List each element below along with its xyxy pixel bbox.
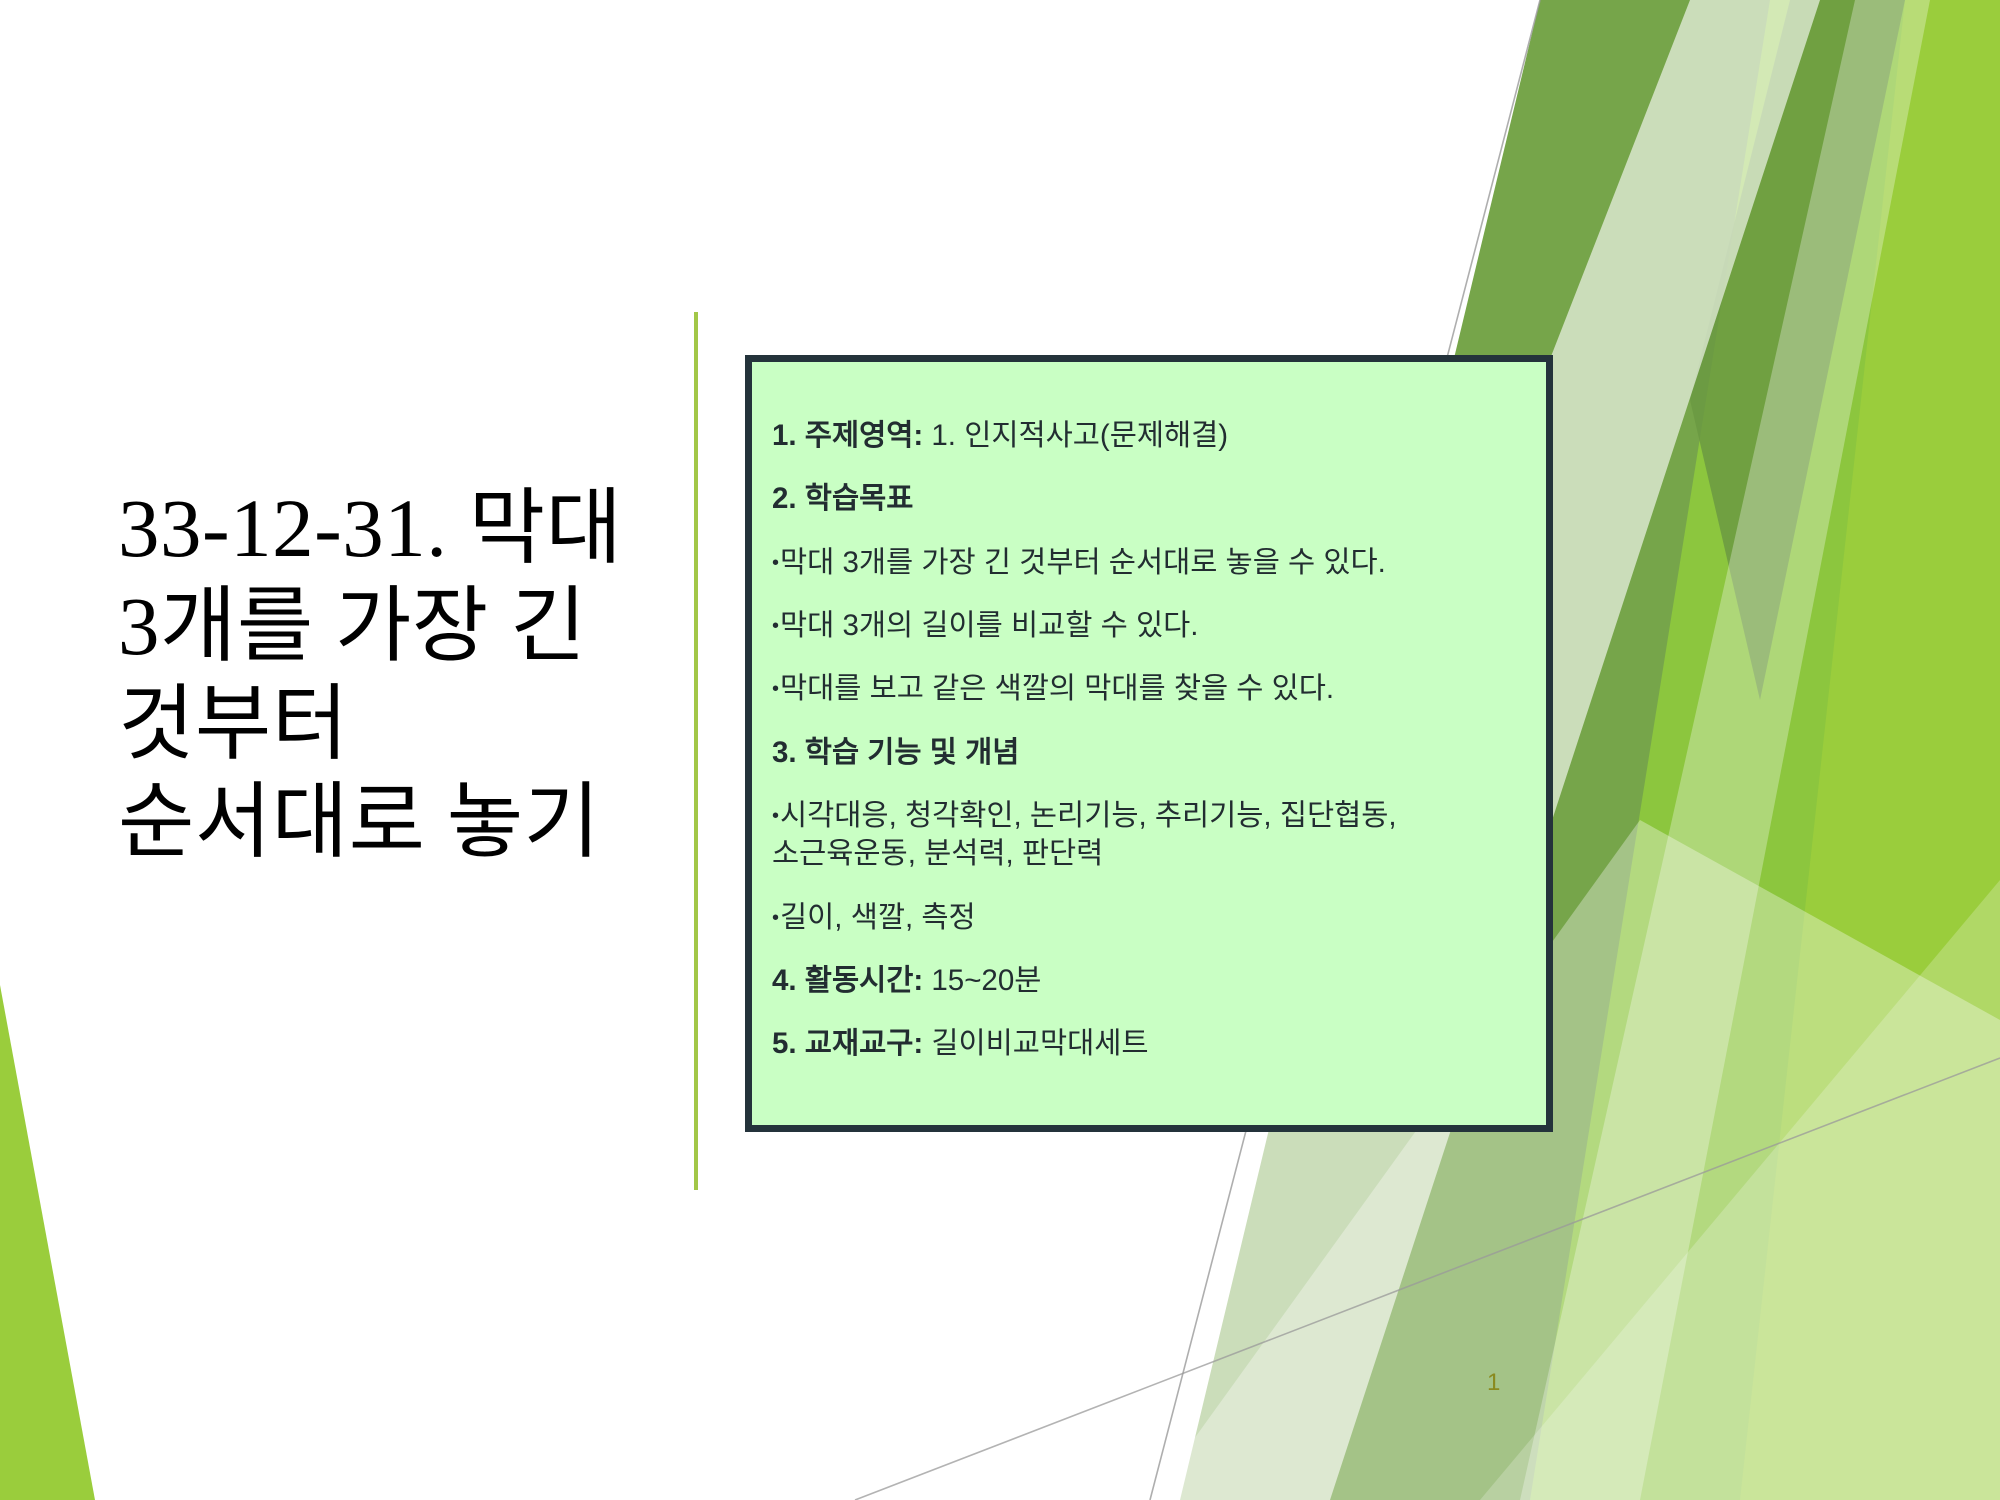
lesson-info-line-label: 5. 교재교구:: [772, 1027, 931, 1060]
lesson-info-line-value: 15~20분: [931, 964, 1041, 997]
lesson-info-line-value: 길이비교막대세트: [931, 1027, 1148, 1060]
lesson-info-line-text: 2. 학습목표: [772, 482, 913, 515]
lesson-info-line: 4. 활동시간: 15~20분: [772, 962, 1536, 1000]
pale-overlay-corner: [1480, 880, 2000, 1500]
lesson-info-line-text: 시각대응, 청각확인, 논리기능, 추리기능, 집단협동, 소근육운동, 분석력…: [772, 799, 1405, 870]
page-number: 1: [1487, 1369, 1500, 1397]
lesson-info-line-text: 길이, 색깔, 측정: [780, 901, 976, 934]
lesson-info-line: 막대를 보고 같은 색깔의 막대를 찾을 수 있다.: [772, 670, 1536, 708]
lesson-info-line-text: 막대를 보고 같은 색깔의 막대를 찾을 수 있다.: [780, 672, 1334, 705]
lesson-info-line-value: 1. 인지적사고(문제해결): [931, 419, 1228, 452]
right-band-bright: [1530, 0, 2000, 1500]
lesson-info-line: 막대 3개를 가장 긴 것부터 순서대로 놓을 수 있다.: [772, 544, 1536, 582]
page-title: 33-12-31. 막대 3개를 가장 긴 것부터 순서대로 놓기: [118, 480, 638, 872]
lesson-info-line: 3. 학습 기능 및 개념: [772, 734, 1536, 772]
lesson-info-list: 1. 주제영역: 1. 인지적사고(문제해결)2. 학습목표막대 3개를 가장 …: [772, 417, 1536, 1089]
slide-title-block: 33-12-31. 막대 3개를 가장 긴 것부터 순서대로 놓기: [118, 480, 638, 872]
lesson-info-line-text: 3. 학습 기능 및 개념: [772, 736, 1019, 769]
bottom-left-wedge: [0, 985, 95, 1500]
right-band-darkest: [1690, 0, 1905, 700]
lesson-info-line-text: 막대 3개를 가장 긴 것부터 순서대로 놓을 수 있다.: [780, 546, 1386, 579]
pale-overlay-sliver: [1520, 0, 1930, 1500]
lesson-info-line-text: 막대 3개의 길이를 비교할 수 있다.: [780, 609, 1198, 642]
lesson-info-line: 시각대응, 청각확인, 논리기능, 추리기능, 집단협동, 소근육운동, 분석력…: [772, 797, 1536, 874]
lesson-info-line: 2. 학습목표: [772, 480, 1536, 518]
lesson-info-line: 1. 주제영역: 1. 인지적사고(문제해결): [772, 417, 1536, 455]
lesson-info-line: 길이, 색깔, 측정: [772, 899, 1536, 937]
presentation-slide: 33-12-31. 막대 3개를 가장 긴 것부터 순서대로 놓기 1. 주제영…: [0, 0, 2000, 1500]
vertical-accent-rule: [694, 312, 698, 1190]
lesson-info-box: 1. 주제영역: 1. 인지적사고(문제해결)2. 학습목표막대 3개를 가장 …: [745, 355, 1553, 1132]
lesson-info-line: 막대 3개의 길이를 비교할 수 있다.: [772, 607, 1536, 645]
lesson-info-line-label: 4. 활동시간:: [772, 964, 931, 997]
lesson-info-line-label: 1. 주제영역:: [772, 419, 931, 452]
lesson-info-line: 5. 교재교구: 길이비교막대세트: [772, 1025, 1536, 1063]
right-band-lime: [1740, 0, 2000, 1500]
